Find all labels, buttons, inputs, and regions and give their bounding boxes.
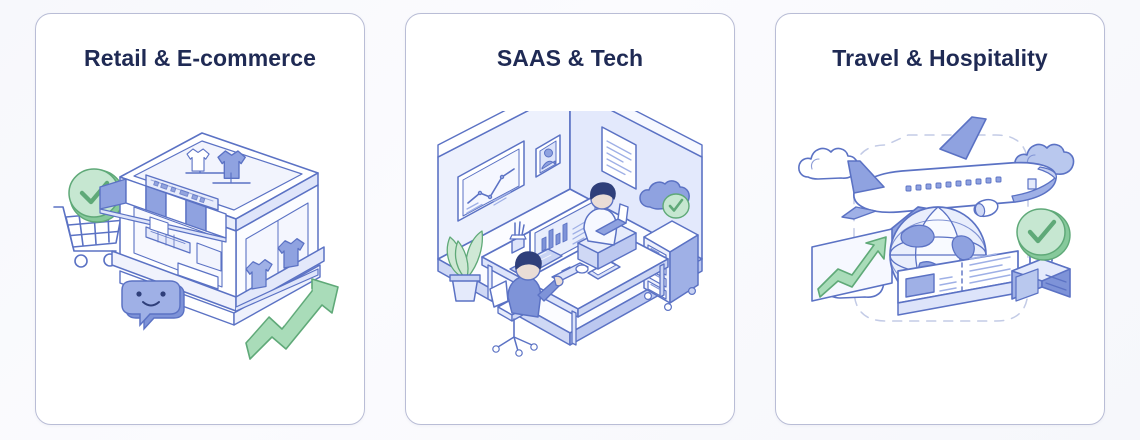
card-travel-hospitality[interactable]: Travel & Hospitality [775, 13, 1105, 425]
card-title: SAAS & Tech [497, 45, 643, 73]
illustration-isometric-travel-scene [790, 111, 1090, 361]
chat-bubble-smiley-icon [122, 281, 184, 329]
green-check-badge [1017, 209, 1070, 260]
card-retail-ecommerce[interactable]: Retail & E-commerce [35, 13, 365, 425]
illustration-isometric-retail-storefront [50, 111, 350, 361]
card-saas-tech[interactable]: SAAS & Tech [405, 13, 735, 425]
illustration-isometric-office-workspace [420, 111, 720, 361]
cards-row: Retail & E-commerce [0, 0, 1140, 440]
card-title: Travel & Hospitality [832, 45, 1047, 73]
card-title: Retail & E-commerce [84, 45, 316, 73]
